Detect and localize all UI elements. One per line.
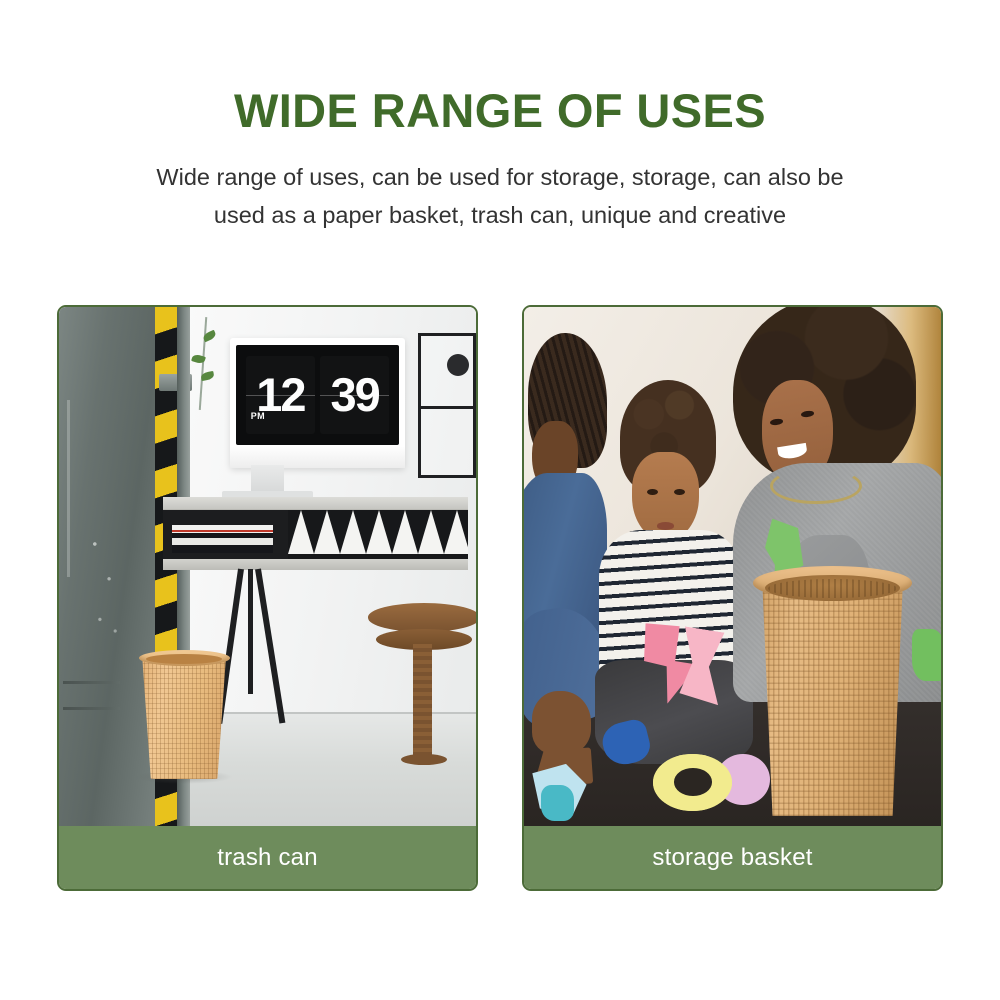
rattan-trash-can bbox=[140, 655, 228, 780]
wooden-stool-seat bbox=[368, 603, 476, 632]
monitor-screen: 12 PM 39 bbox=[236, 345, 399, 445]
panel-caption-trash-can: trash can bbox=[59, 826, 476, 889]
product-feature-image: WIDE RANGE OF USES Wide range of uses, c… bbox=[0, 0, 1000, 1000]
ivy-vine bbox=[186, 317, 224, 410]
basket-weave-body bbox=[140, 655, 228, 780]
woman-sweater-collar bbox=[770, 468, 862, 504]
photo-office-workspace: 12 PM 39 bbox=[59, 307, 476, 826]
desk-leg bbox=[248, 569, 253, 694]
page-subtitle: Wide range of uses, can be used for stor… bbox=[0, 159, 1000, 234]
feature-panels: 12 PM 39 bbox=[57, 305, 943, 891]
door-speckle-texture bbox=[88, 515, 123, 660]
desktop-monitor: 12 PM 39 bbox=[230, 338, 405, 468]
boy-eye bbox=[647, 489, 658, 495]
desk-papers bbox=[172, 525, 272, 553]
vine-stem bbox=[199, 317, 207, 410]
page-title: WIDE RANGE OF USES bbox=[0, 86, 1000, 135]
subtitle-line-1: Wide range of uses, can be used for stor… bbox=[80, 159, 920, 197]
basket-inner-opening bbox=[146, 654, 221, 664]
desk-surface bbox=[163, 497, 467, 510]
door-panel-line bbox=[63, 681, 121, 684]
flip-card-minutes: 39 bbox=[320, 356, 389, 434]
panel-storage-basket: storage basket bbox=[522, 305, 943, 891]
storage-basket-weave-body bbox=[758, 577, 908, 816]
header-block: WIDE RANGE OF USES Wide range of uses, c… bbox=[0, 86, 1000, 235]
door-panel-line bbox=[63, 707, 121, 710]
subtitle-line-2: used as a paper basket, trash can, uniqu… bbox=[80, 197, 920, 235]
clock-minutes: 39 bbox=[330, 371, 378, 418]
wooden-stool-post bbox=[413, 644, 432, 758]
clock-meridiem: PM bbox=[251, 411, 265, 421]
desk-base-rail bbox=[163, 559, 467, 570]
panel-trash-can: 12 PM 39 bbox=[57, 305, 478, 891]
family-scene bbox=[524, 307, 941, 826]
desk-drawer-body bbox=[163, 509, 467, 558]
desk-drawer-zigzag-pattern bbox=[288, 510, 468, 558]
foam-letter-yellow-o bbox=[653, 754, 732, 811]
boy-eye bbox=[674, 489, 685, 495]
boy-mouth bbox=[657, 522, 674, 529]
adult-left-hand bbox=[532, 691, 590, 753]
panel-caption-storage-basket: storage basket bbox=[524, 826, 941, 889]
shelf-decor-circle bbox=[447, 354, 469, 376]
rattan-storage-basket bbox=[758, 577, 908, 816]
monitor-stand-neck bbox=[251, 465, 284, 494]
wooden-stool-foot bbox=[401, 754, 447, 765]
office-scene: 12 PM 39 bbox=[59, 307, 476, 826]
foam-letter-green-edge bbox=[912, 629, 941, 681]
foam-letter-teal bbox=[541, 785, 574, 821]
flip-clock: 12 PM 39 bbox=[236, 345, 399, 445]
shelf-divider bbox=[418, 406, 476, 409]
flip-card-hours: 12 PM bbox=[246, 356, 315, 434]
photo-family-living-room bbox=[524, 307, 941, 826]
